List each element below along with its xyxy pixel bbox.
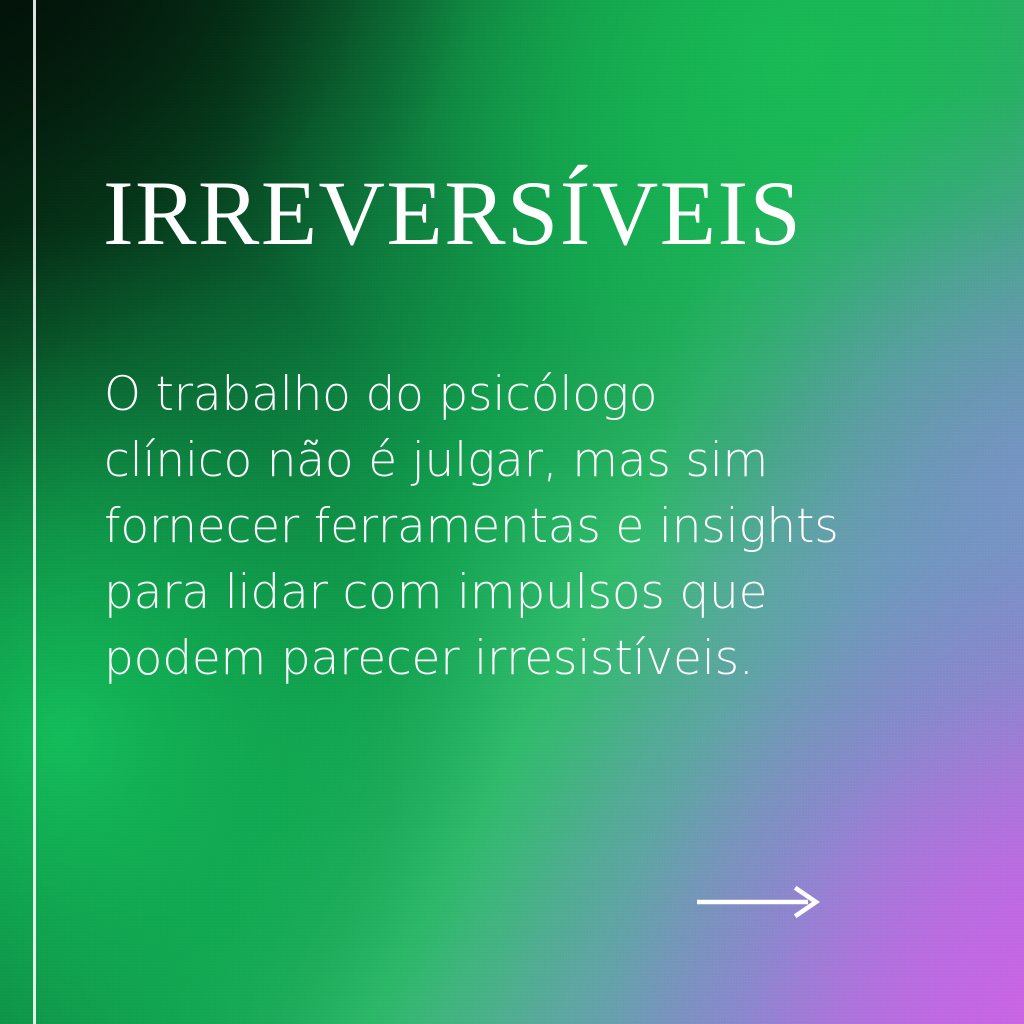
body-line: O trabalho do psicólogo [104,362,864,428]
body-line: fornecer ferramentas e insights [104,494,864,560]
arrow-right-icon [696,884,820,920]
body-paragraph: O trabalho do psicólogo clínico não é ju… [104,362,864,692]
body-line: para lidar com impulsos que [104,560,864,626]
slide-canvas: IRREVERSÍVEIS O trabalho do psicólogo cl… [0,0,1024,1024]
vertical-rule [33,0,36,1024]
next-slide-button[interactable] [696,884,820,920]
body-line: clínico não é julgar, mas sim [104,428,864,494]
page-title: IRREVERSÍVEIS [103,166,802,262]
body-line: podem parecer irresistíveis. [104,626,864,692]
